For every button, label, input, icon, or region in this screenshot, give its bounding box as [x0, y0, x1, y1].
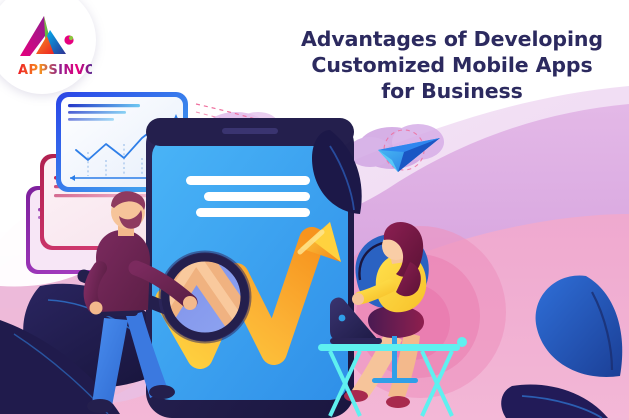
page-title: Advantages of Developing Customized Mobi…	[291, 26, 613, 104]
headline-line-2: Customized Mobile Apps	[291, 52, 613, 78]
headline-line-1: Advantages of Developing	[291, 26, 613, 52]
logo-wordmark: APPSINVO	[18, 63, 92, 78]
appsinvo-logo-mark: APPSINVO	[14, 10, 92, 82]
promo-banner: APPSINVO Advantages of Developing Custom…	[0, 0, 629, 420]
logo-badge[interactable]: APPSINVO	[0, 0, 96, 94]
headline-line-3: for Business	[291, 78, 613, 104]
